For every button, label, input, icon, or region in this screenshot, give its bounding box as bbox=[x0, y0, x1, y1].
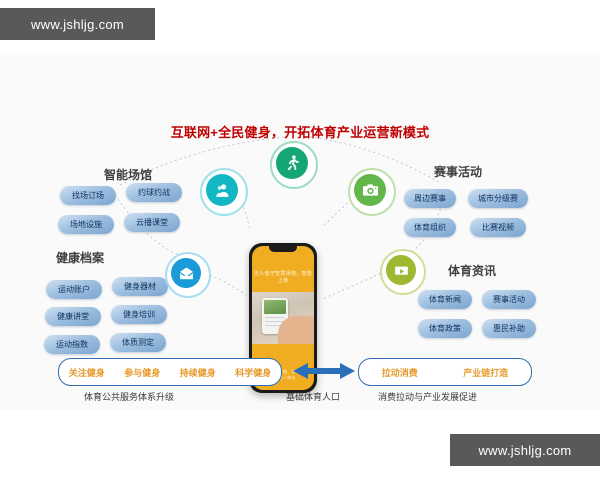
phone-screen-photo bbox=[252, 292, 314, 344]
capsule-left-item-0[interactable]: 关注健身 bbox=[69, 366, 105, 379]
capsule-left: 关注健身 参与健身 持续健身 科学健身 bbox=[58, 358, 282, 386]
pill-venue-3[interactable]: 云播课堂 bbox=[124, 213, 180, 232]
pill-news-2[interactable]: 体育政策 bbox=[418, 319, 472, 338]
watermark-top: www.jshljg.com bbox=[0, 8, 155, 40]
watermark-top-text: www.jshljg.com bbox=[31, 17, 124, 32]
slide-headline: 互联网+全民健身，开拓体育产业运营新模式 bbox=[0, 122, 600, 141]
pill-health-5[interactable]: 体质测定 bbox=[110, 333, 166, 352]
pill-event-3[interactable]: 比赛视频 bbox=[470, 218, 526, 237]
watermark-bottom: www.jshljg.com bbox=[450, 434, 600, 466]
pill-health-0[interactable]: 运动账户 bbox=[46, 280, 102, 299]
pill-health-4[interactable]: 运动指数 bbox=[44, 335, 100, 354]
user-icon bbox=[214, 182, 231, 199]
mail-icon bbox=[178, 265, 195, 282]
watermark-bottom-text: www.jshljg.com bbox=[478, 443, 571, 458]
double-arrow-icon bbox=[293, 362, 355, 380]
pill-news-0[interactable]: 体育新闻 bbox=[418, 290, 472, 309]
pill-health-2[interactable]: 健康讲堂 bbox=[45, 307, 101, 326]
photo-hand bbox=[278, 316, 314, 344]
icon-bubble-play[interactable] bbox=[380, 249, 426, 295]
capsule-left-item-1[interactable]: 参与健身 bbox=[124, 366, 160, 379]
caption-right: 消费拉动与产业发展促进 bbox=[378, 390, 477, 403]
camera-icon bbox=[361, 181, 380, 200]
phone-screen-headline: 无人值守智慧场馆，智能上场 bbox=[252, 270, 314, 284]
group-title-venue: 智能场馆 bbox=[104, 166, 152, 183]
pill-news-3[interactable]: 惠民补助 bbox=[482, 319, 536, 338]
pill-event-0[interactable]: 周边赛事 bbox=[404, 189, 456, 208]
phone-notch bbox=[269, 246, 297, 252]
capsule-right: 拉动消费 产业链打造 bbox=[358, 358, 532, 386]
capsule-right-item-0[interactable]: 拉动消费 bbox=[382, 366, 418, 379]
icon-bubble-runner[interactable] bbox=[270, 141, 318, 189]
pill-venue-1[interactable]: 约球约战 bbox=[126, 183, 182, 202]
capsule-left-item-3[interactable]: 科学健身 bbox=[235, 366, 271, 379]
group-title-health: 健康档案 bbox=[56, 249, 104, 266]
group-title-news: 体育资讯 bbox=[448, 262, 496, 279]
slide-canvas: 互联网+全民健身，开拓体育产业运营新模式 智能场馆 健康档案 赛事活动 体育资讯… bbox=[0, 55, 600, 410]
capsule-left-item-2[interactable]: 持续健身 bbox=[180, 366, 216, 379]
pill-venue-0[interactable]: 找场订场 bbox=[60, 186, 116, 205]
group-title-event: 赛事活动 bbox=[434, 163, 482, 180]
icon-bubble-user[interactable] bbox=[200, 168, 248, 216]
pill-event-2[interactable]: 体育组织 bbox=[404, 218, 456, 237]
icon-bubble-mail[interactable] bbox=[165, 252, 211, 298]
pill-health-3[interactable]: 健身培训 bbox=[111, 305, 167, 324]
caption-left: 体育公共服务体系升级 bbox=[84, 390, 174, 403]
capsule-right-item-1[interactable]: 产业链打造 bbox=[463, 366, 508, 379]
caption-mid: 基础体育人口 bbox=[286, 390, 340, 403]
pill-event-1[interactable]: 城市分级赛 bbox=[468, 189, 528, 208]
pill-news-1[interactable]: 赛事活动 bbox=[482, 290, 536, 309]
runner-icon bbox=[283, 154, 301, 172]
pill-venue-2[interactable]: 场地设施 bbox=[58, 215, 114, 234]
play-icon bbox=[393, 262, 410, 279]
pill-health-1[interactable]: 健身器材 bbox=[112, 277, 168, 296]
icon-bubble-camera[interactable] bbox=[348, 168, 396, 216]
